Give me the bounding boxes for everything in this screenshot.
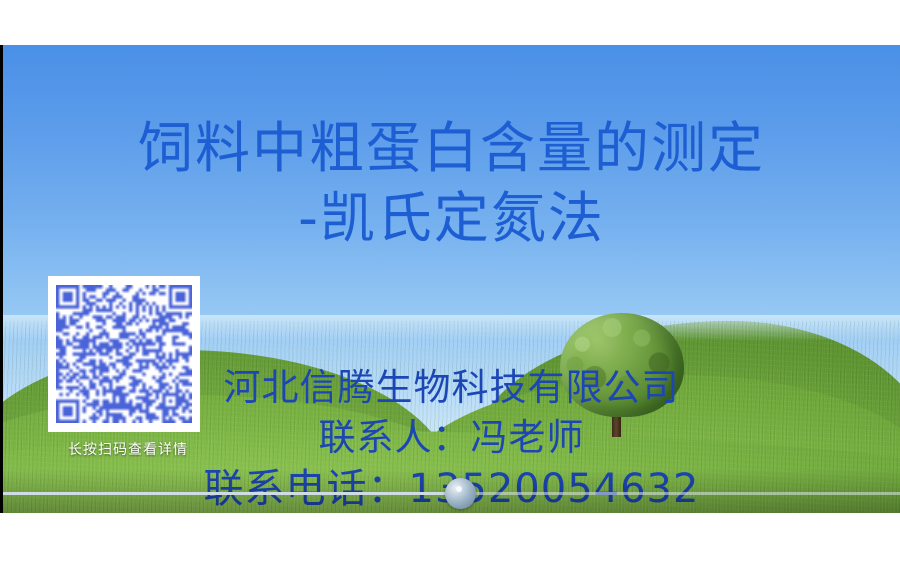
slide-subtitle: -凯氏定氮法 (3, 187, 900, 249)
video-progress-fill (3, 492, 460, 495)
qr-code-icon[interactable] (48, 276, 200, 432)
video-stage[interactable]: 饲料中粗蛋白含量的测定 -凯氏定氮法 河北信腾生物科技有限公司 联系人：冯老师 … (0, 45, 900, 513)
letterbox-bar-top (0, 0, 900, 45)
slide-title: 饲料中粗蛋白含量的测定 (3, 117, 900, 179)
letterbox-bar-bottom (0, 513, 900, 561)
qr-code-canvas (56, 285, 192, 423)
qr-code-caption: 长按扫码查看详情 (48, 439, 208, 459)
video-frame[interactable]: 饲料中粗蛋白含量的测定 -凯氏定氮法 河北信腾生物科技有限公司 联系人：冯老师 … (3, 45, 900, 513)
